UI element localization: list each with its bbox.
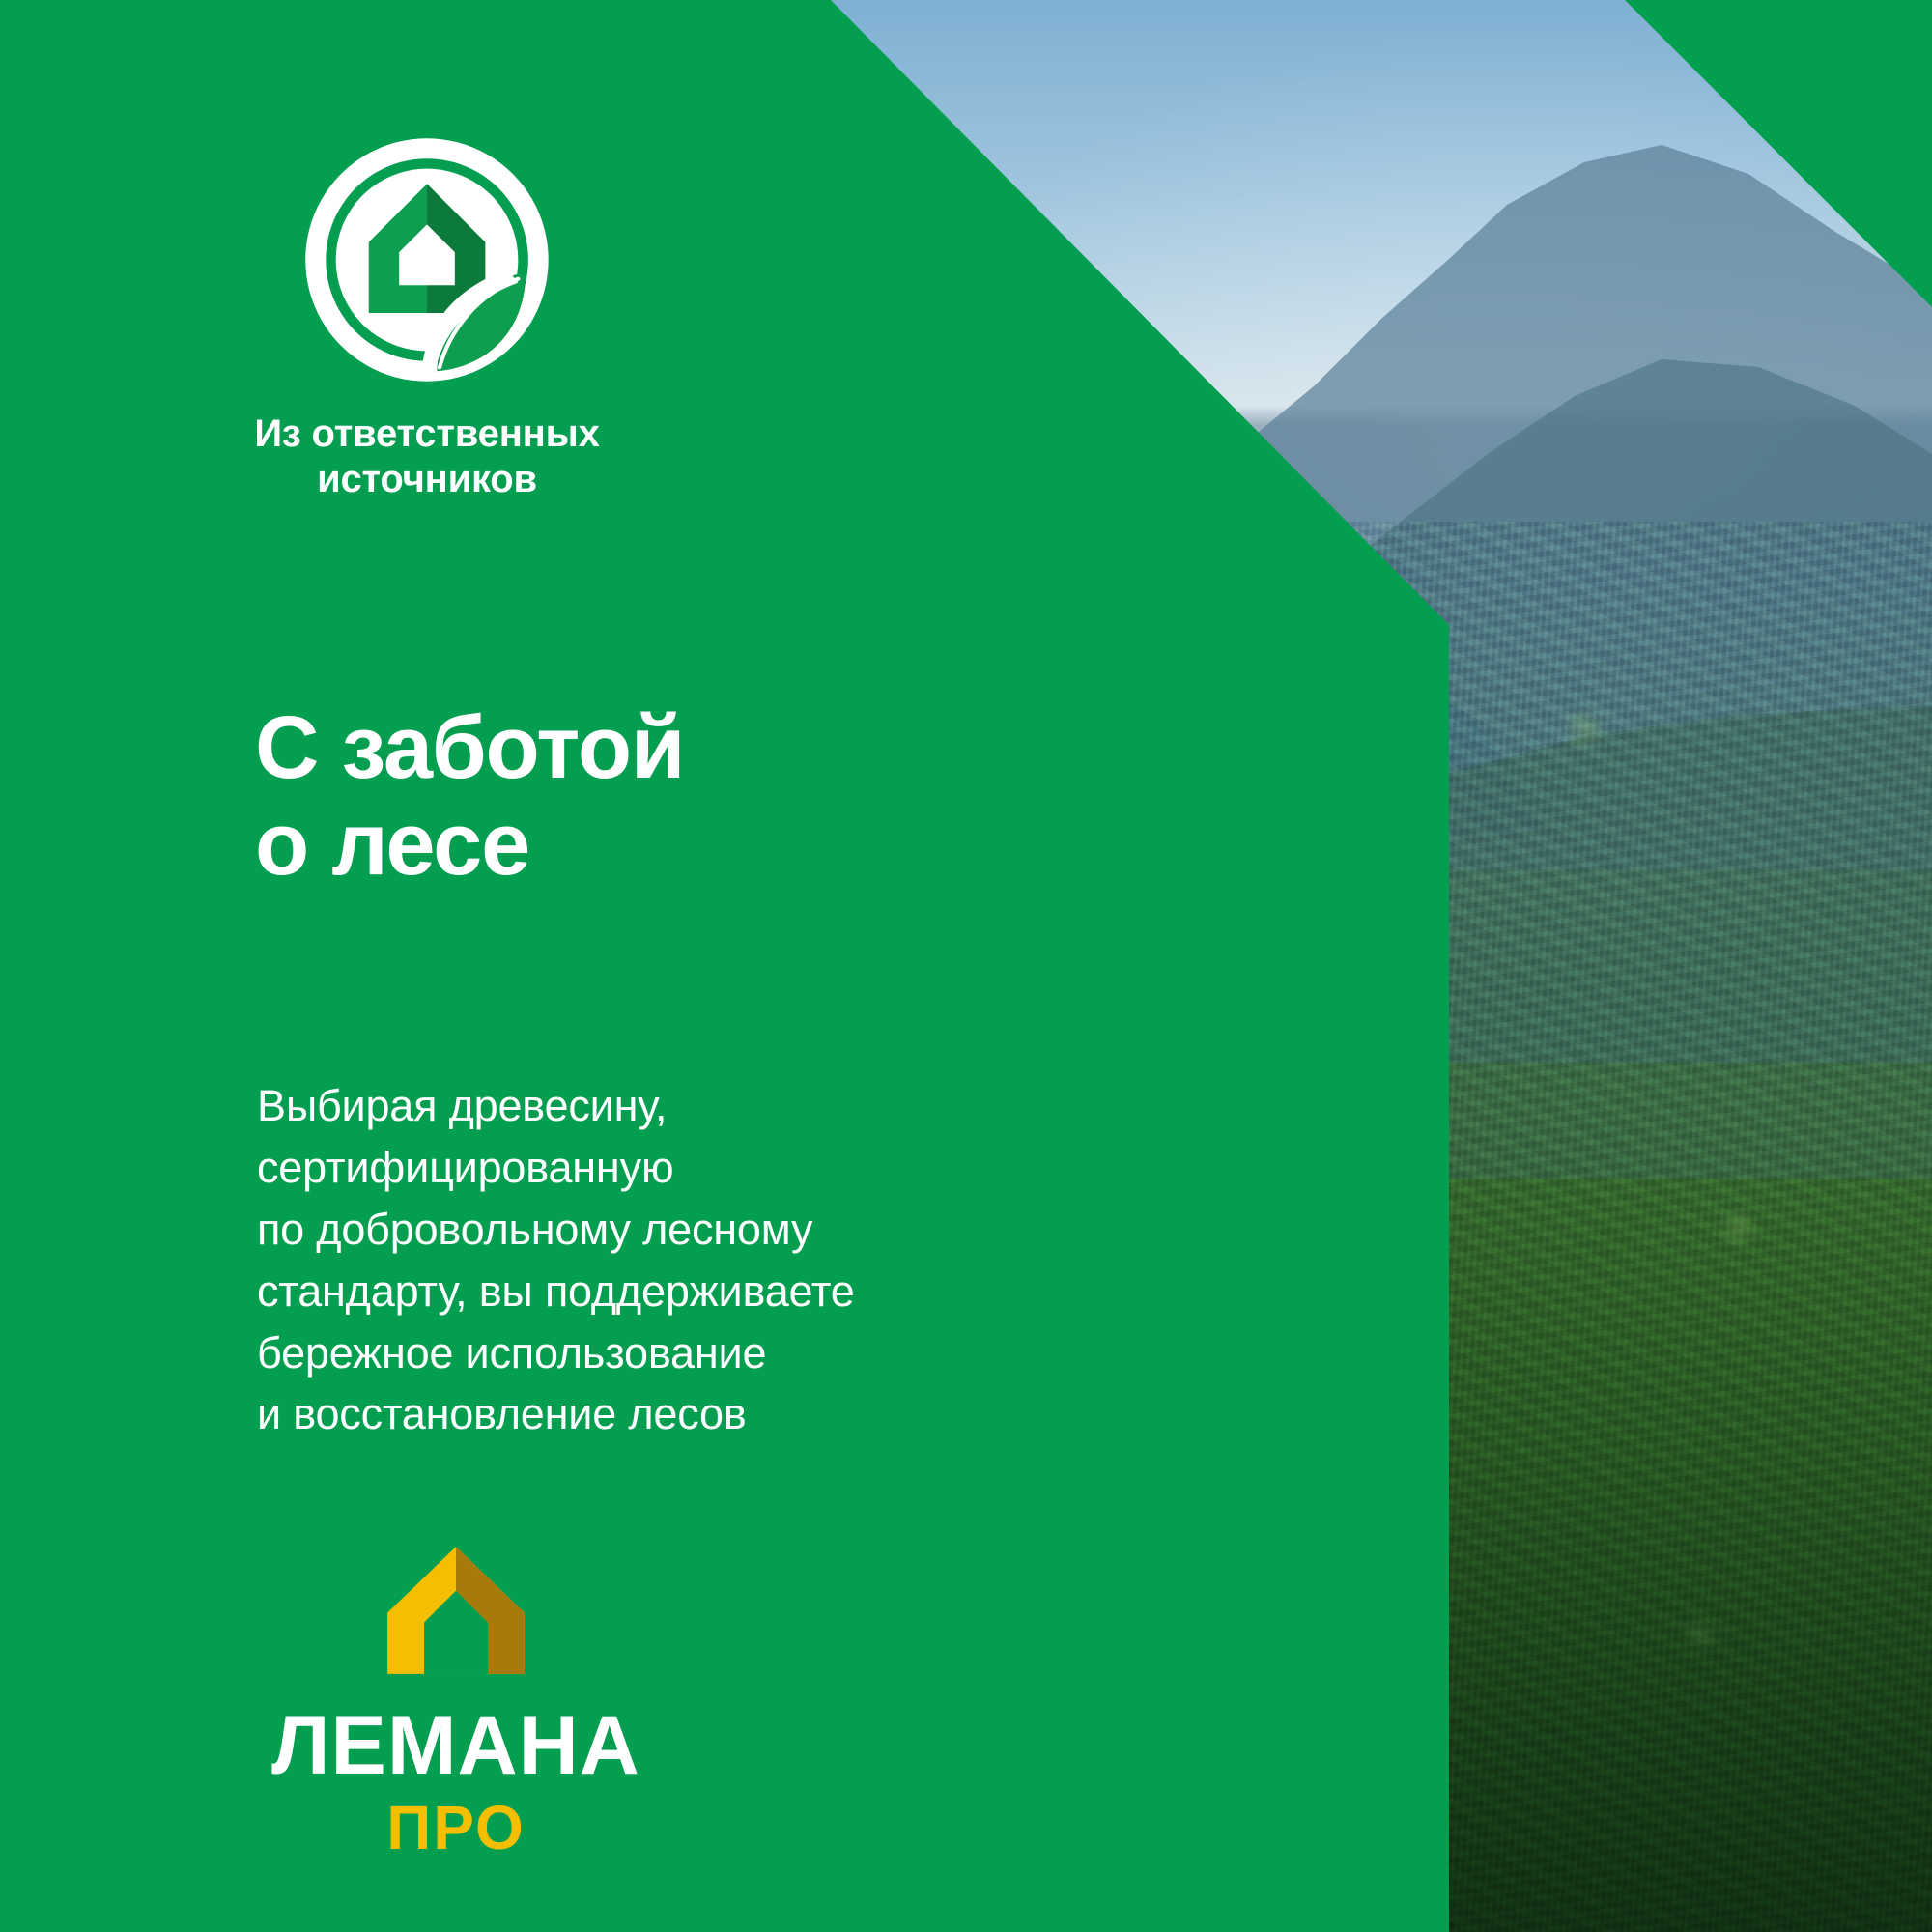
page-title: С заботой о лесе (255, 699, 684, 894)
eco-badge: Из ответственных источников (253, 133, 601, 502)
yellow-house-icon (383, 1542, 529, 1679)
body-paragraph: Выбирая древесину, сертифицированную по … (257, 1075, 855, 1445)
brand-name-label: ЛЕМАНА (253, 1704, 659, 1787)
house-in-circle-with-leaf-icon (300, 133, 554, 386)
brand-logo: ЛЕМАНА ПРО (253, 1542, 659, 1859)
poster-canvas: Из ответственных источников С заботой о … (0, 0, 1932, 1932)
brand-sub-label: ПРО (253, 1797, 659, 1859)
eco-badge-label: Из ответственных источников (253, 412, 601, 502)
